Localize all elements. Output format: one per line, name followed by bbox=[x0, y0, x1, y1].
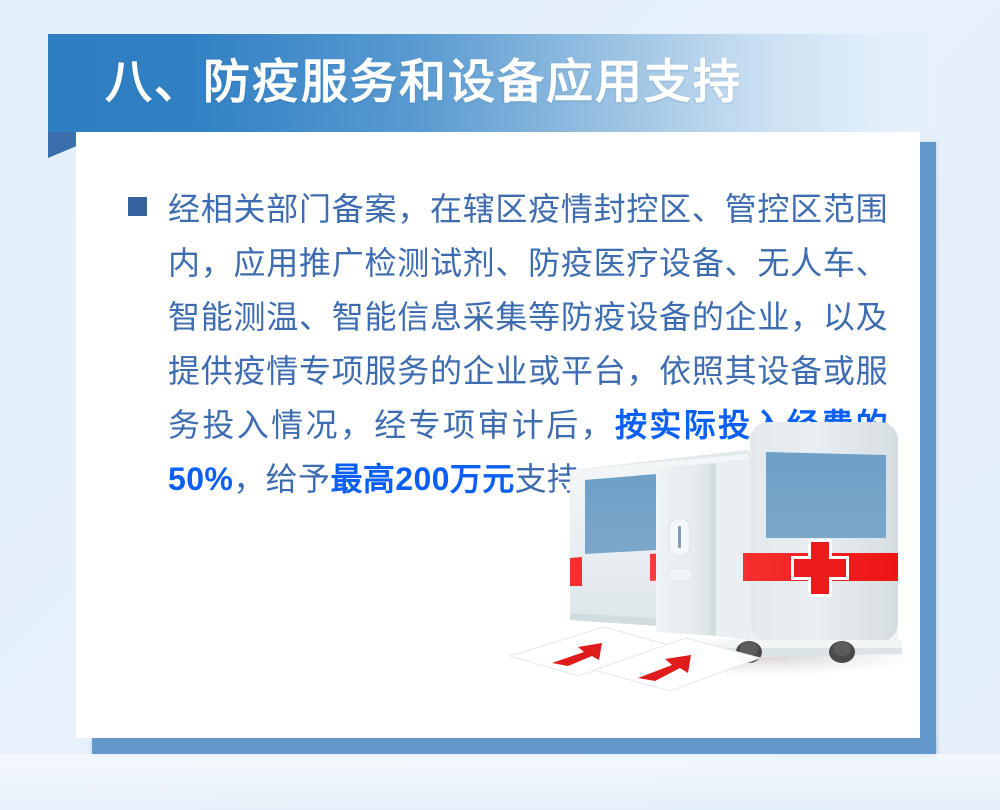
footer-fade bbox=[0, 754, 1000, 810]
card-accent-right-bar bbox=[920, 142, 936, 754]
paragraph-segment-3: ，给予 bbox=[233, 461, 330, 497]
paragraph-segment-4-highlight: 最高200万元 bbox=[330, 461, 514, 497]
page-title: 八、防疫服务和设备应用支持 bbox=[105, 52, 742, 112]
left-window bbox=[585, 474, 656, 554]
left-red-stripe bbox=[570, 557, 582, 586]
square-bullet-icon bbox=[128, 197, 147, 216]
door-button[interactable] bbox=[668, 568, 692, 581]
sliding-door bbox=[656, 463, 716, 636]
illustration-medical-booth bbox=[498, 408, 918, 698]
paragraph-segment-1: 经相关部门备案，在辖区疫情封控区、管控区范围内，应用推广检测试剂、防疫医疗设备、… bbox=[168, 191, 888, 443]
wheel-right-hub bbox=[833, 642, 851, 656]
door-handle-slot bbox=[678, 526, 681, 548]
infographic-page: 八、防疫服务和设备应用支持 经相关部门备案，在辖区疫情封控区、管控区范围内，应用… bbox=[0, 0, 1000, 810]
cabin-connector bbox=[716, 458, 750, 640]
right-window bbox=[766, 452, 886, 538]
card-accent-bottom-bar bbox=[92, 738, 936, 754]
door-edge bbox=[710, 463, 716, 636]
